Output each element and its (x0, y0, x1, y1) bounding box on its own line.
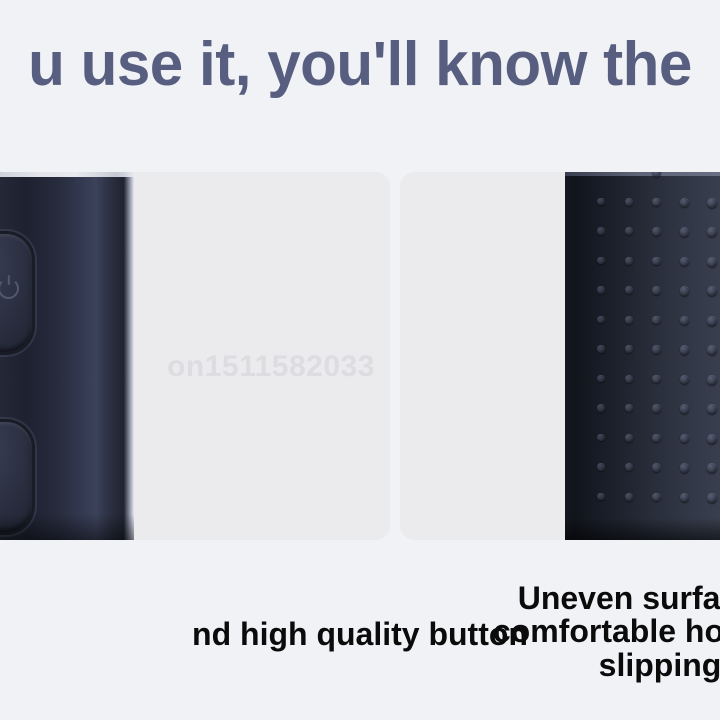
feature-panel-right (400, 172, 720, 540)
texture-dot (680, 257, 690, 267)
texture-dot (707, 198, 717, 208)
texture-dot (597, 257, 605, 265)
texture-dot (707, 375, 717, 385)
texture-dot (625, 493, 633, 501)
texture-dot (707, 404, 717, 414)
texture-dot (707, 227, 717, 237)
texture-dot (680, 227, 690, 237)
texture-dot (680, 463, 690, 473)
texture-dot (652, 345, 661, 354)
texture-dot (652, 404, 661, 413)
texture-dot (680, 198, 690, 208)
texture-dot (625, 257, 633, 265)
texture-dot (597, 434, 605, 442)
caption-right-line-3: slipping (493, 649, 720, 682)
feature-panel-left: on1511582033 (0, 172, 390, 540)
texture-dot (652, 198, 661, 207)
texture-dot (625, 316, 633, 324)
texture-dot (707, 493, 717, 503)
feature-panels: on1511582033 (0, 172, 720, 540)
caption-left: nd high quality button (192, 618, 528, 651)
texture-dot (597, 493, 605, 501)
heading-band: u use it, you'll know the (0, 0, 720, 140)
device-mode-button (0, 422, 32, 532)
texture-dot (707, 286, 717, 296)
texture-dot (597, 345, 605, 353)
texture-dot (707, 345, 717, 355)
texture-dot (597, 286, 605, 294)
texture-dot (625, 198, 633, 206)
texture-dot (597, 227, 605, 235)
device-power-button (0, 234, 32, 352)
device-image-texture (565, 172, 720, 540)
texture-dot (680, 345, 690, 355)
texture-dot (652, 434, 661, 443)
caption-right-line-2: comfortable holding a (493, 615, 720, 648)
texture-dot (597, 375, 605, 383)
texture-dot (652, 493, 661, 502)
texture-dot (652, 463, 661, 472)
page-title-text: u use it, you'll know the (28, 32, 692, 97)
product-feature-banner: u use it, you'll know the on1511582033 n… (0, 0, 720, 720)
texture-dot (652, 227, 661, 236)
texture-dot (680, 404, 690, 414)
texture-dot (625, 404, 633, 412)
caption-right: Uneven surface de comfortable holding a … (493, 582, 720, 682)
dot-texture-grid (565, 172, 720, 540)
caption-left-line-1: nd high quality button (192, 616, 528, 652)
texture-dot (652, 172, 661, 177)
texture-dot (707, 434, 717, 444)
texture-dot (680, 286, 690, 296)
texture-dot (680, 316, 690, 326)
texture-dot (707, 463, 717, 473)
texture-dot (652, 257, 661, 266)
texture-dot (680, 434, 690, 444)
texture-dot (597, 404, 605, 412)
texture-dot (707, 257, 717, 267)
texture-dot (707, 316, 717, 326)
texture-dot (625, 227, 633, 235)
texture-dot (625, 434, 633, 442)
caption-right-line-1: Uneven surface de (493, 582, 720, 615)
power-icon (0, 278, 19, 299)
texture-dot (625, 345, 633, 353)
page-title: u use it, you'll know the (18, 32, 702, 97)
watermark-text: on1511582033 (156, 350, 386, 384)
texture-dot (597, 463, 605, 471)
texture-dot (625, 375, 633, 383)
texture-dot (680, 375, 690, 385)
caption-row: nd high quality button Uneven surface de… (0, 540, 720, 720)
texture-dot (597, 198, 605, 206)
texture-dot (625, 463, 633, 471)
texture-dot (680, 493, 690, 503)
texture-dot (597, 316, 605, 324)
texture-dot (652, 316, 661, 325)
texture-dot (625, 286, 633, 294)
texture-dot (652, 286, 661, 295)
texture-dot (652, 375, 661, 384)
device-image-buttons (0, 172, 134, 540)
